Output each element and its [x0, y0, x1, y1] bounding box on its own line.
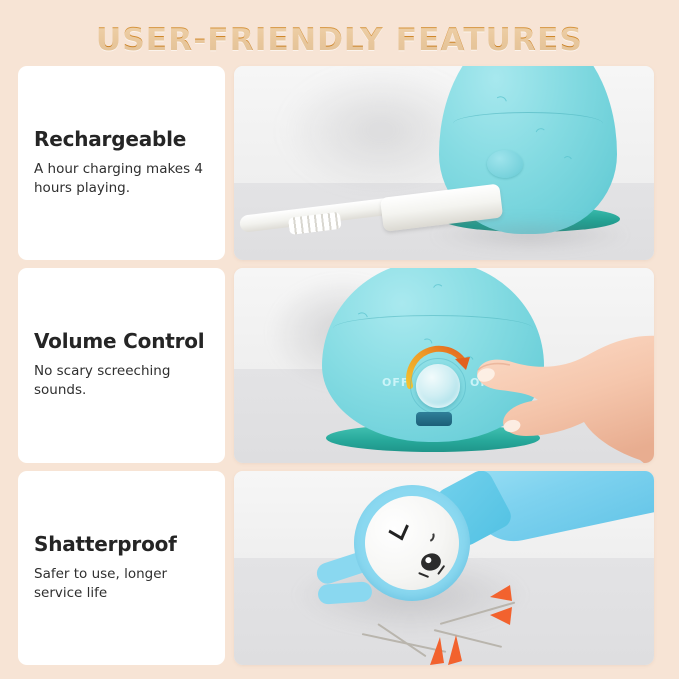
feature-description: Safer to use, longer service life [34, 565, 209, 603]
hand-pointing-icon [434, 326, 654, 462]
feature-image-rechargeable [234, 66, 654, 260]
page-title-container: USER-FRIENDLY FEATURES [0, 0, 679, 56]
toy-ground-shadow [430, 218, 630, 252]
toy-side-knob [487, 150, 523, 178]
bunny-eye-right [420, 527, 437, 544]
feature-image-volume-control: OFF ON [234, 268, 654, 462]
features-grid: Rechargeable A hour charging makes 4 hou… [18, 66, 661, 665]
feature-title: Rechargeable [34, 128, 209, 151]
toy-texture-line [560, 155, 574, 174]
feature-card-shatterproof: Shatterproof Safer to use, longer servic… [18, 471, 225, 665]
toy-texture-line [488, 94, 511, 120]
feature-title: Shatterproof [34, 533, 209, 556]
page-title: USER-FRIENDLY FEATURES [96, 22, 583, 58]
feature-description: No scary screeching sounds. [34, 362, 209, 400]
bunny-face-plate [354, 485, 470, 601]
toy-texture-line [349, 310, 372, 338]
bunny-ear [317, 581, 372, 605]
feature-card-rechargeable: Rechargeable A hour charging makes 4 hou… [18, 66, 225, 260]
feature-card-volume-control: Volume Control No scary screeching sound… [18, 268, 225, 462]
feature-title: Volume Control [34, 330, 209, 353]
impact-mark-icon [426, 631, 470, 665]
bunny-eye-left [388, 517, 408, 540]
toy-texture-line [430, 283, 447, 305]
impact-mark-icon [482, 583, 522, 627]
bunny-whisker [418, 572, 429, 578]
feature-description: A hour charging makes 4 hours playing. [34, 160, 209, 198]
feature-image-shatterproof [234, 471, 654, 665]
toy-texture-line [533, 127, 551, 150]
feature-infographic-page: USER-FRIENDLY FEATURES Rechargeable A ho… [0, 0, 679, 679]
